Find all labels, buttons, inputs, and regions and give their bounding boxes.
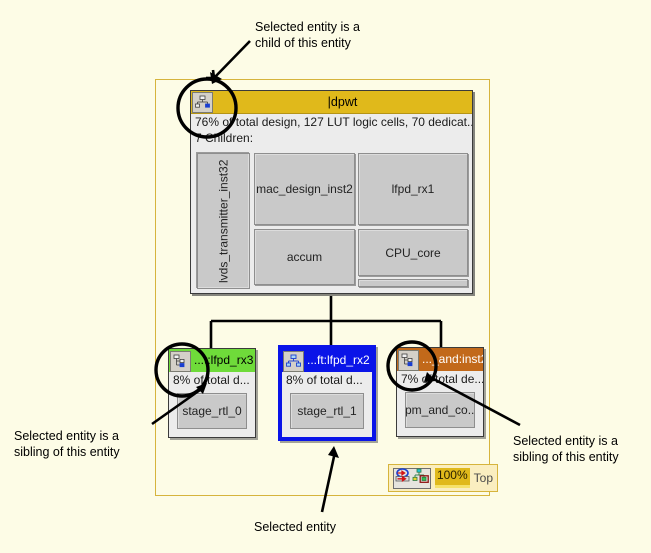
child-entity[interactable]: mac_design_inst2: [254, 153, 355, 225]
green-child-entity[interactable]: stage_rtl_0: [177, 393, 247, 429]
root-stats-line: 76% of total design, 127 LUT logic cells…: [191, 114, 472, 130]
blue-stats-line: 8% of total d...: [282, 372, 372, 388]
hierarchy-zoom-icon[interactable]: [412, 468, 429, 489]
zoom-level-label: Top: [474, 471, 493, 485]
annotation-sibling-right: Selected entity is a sibling of this ent…: [513, 433, 619, 465]
diagram-root: Selected entity is a child of this entit…: [0, 0, 651, 553]
entity-block-sibling-brown[interactable]: ..._and:inst2 7% of total de... lpm_and_…: [396, 347, 484, 437]
blue-title-text: ...ft:lfpd_rx2: [304, 349, 372, 372]
root-children-area: lvds_transmitter_inst32 mac_design_inst2…: [197, 153, 468, 289]
child-entity[interactable]: [358, 279, 468, 287]
child-entity[interactable]: accum: [254, 229, 355, 285]
child-entity[interactable]: CPU_core: [358, 229, 468, 276]
child-entity[interactable]: lvds_transmitter_inst32: [197, 153, 250, 289]
annotation-child-of: Selected entity is a child of this entit…: [255, 19, 360, 51]
entity-block-selected[interactable]: ...ft:lfpd_rx2 8% of total d... stage_rt…: [278, 345, 376, 441]
green-title-text: ...t:lfpd_rx3: [191, 349, 255, 372]
root-title-bar: |dpwt: [191, 91, 472, 114]
fit-in-window-icon[interactable]: [394, 468, 411, 489]
green-stats-line: 8% of total d...: [169, 372, 255, 388]
brown-title-text: ..._and:inst2: [419, 348, 483, 371]
root-title-text: |dpwt: [213, 91, 472, 114]
entity-block-sibling-green[interactable]: ...t:lfpd_rx3 8% of total d... stage_rtl…: [168, 348, 256, 438]
zoom-icon-group[interactable]: [393, 468, 431, 489]
hierarchy-node-icon[interactable]: [398, 350, 419, 371]
annotation-sibling-left: Selected entity is a sibling of this ent…: [14, 428, 120, 460]
annotation-selected-entity: Selected entity: [254, 519, 336, 535]
hierarchy-node-icon[interactable]: [192, 92, 213, 113]
root-children-count: 7 Children:: [191, 130, 472, 146]
entity-block-root[interactable]: |dpwt 76% of total design, 127 LUT logic…: [190, 90, 473, 294]
hierarchy-node-icon[interactable]: [170, 351, 191, 372]
blue-child-entity[interactable]: stage_rtl_1: [290, 393, 364, 429]
brown-title-bar: ..._and:inst2: [397, 348, 483, 371]
zoom-toolbar[interactable]: 100% Top: [388, 464, 498, 492]
brown-child-entity[interactable]: lpm_and_co...: [405, 392, 475, 428]
hierarchy-node-icon[interactable]: [283, 351, 304, 372]
brown-stats-line: 7% of total de...: [397, 371, 483, 387]
leader-top: [214, 41, 250, 78]
green-title-bar: ...t:lfpd_rx3: [169, 349, 255, 372]
zoom-percent-label[interactable]: 100%: [435, 468, 470, 488]
blue-title-bar: ...ft:lfpd_rx2: [282, 349, 372, 372]
child-entity[interactable]: lfpd_rx1: [358, 153, 468, 225]
